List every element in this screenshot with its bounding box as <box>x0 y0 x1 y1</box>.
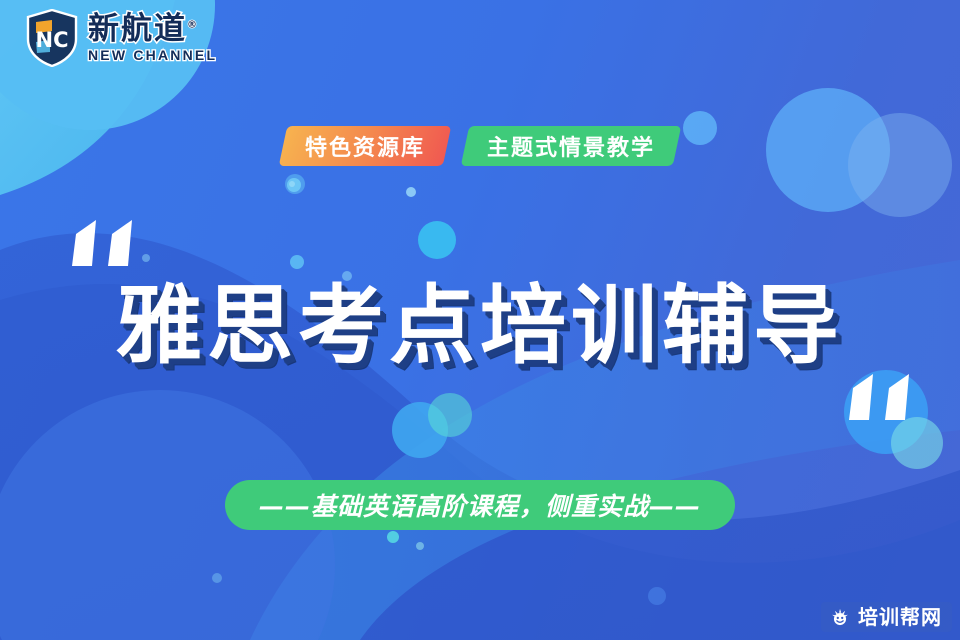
brand-wordmark: 新航道® NEW CHANNEL <box>88 14 217 62</box>
site-watermark-label: 培训帮网 <box>858 607 942 627</box>
feature-badge-row: 特色资源库 主题式情景教学 <box>0 126 960 166</box>
subtitle-pill[interactable]: ——基础英语高阶课程，侧重实战—— <box>225 480 735 530</box>
shape-dot-11 <box>212 573 222 583</box>
subtitle-container: ——基础英语高阶课程，侧重实战—— <box>0 480 960 530</box>
site-watermark[interactable]: 培训帮网 <box>821 602 952 632</box>
smiling-face-icon <box>829 606 851 628</box>
shape-dot-9 <box>387 531 399 543</box>
feature-badge-teaching[interactable]: 主题式情景教学 <box>461 126 682 166</box>
promo-banner: NC 新航道® NEW CHANNEL 特色资源库 主题式情景教学 雅思考点培训… <box>0 0 960 640</box>
brand-name-en: NEW CHANNEL <box>88 48 217 62</box>
brand-logo[interactable]: NC 新航道® NEW CHANNEL <box>26 9 217 67</box>
feature-badge-resources[interactable]: 特色资源库 <box>279 126 452 166</box>
brand-name-cn-text: 新航道 <box>88 11 187 47</box>
headline-title: 雅思考点培训辅导 <box>0 255 960 380</box>
registered-mark: ® <box>187 20 199 31</box>
feature-badge-teaching-label: 主题式情景教学 <box>487 130 655 162</box>
shape-circle-teal-b <box>428 393 472 437</box>
shape-dot-4 <box>285 174 305 194</box>
shape-dot-5 <box>406 187 416 197</box>
shape-dot-10 <box>416 542 424 550</box>
shield-monogram: NC <box>36 28 69 52</box>
shape-dot-3 <box>418 221 456 259</box>
shape-circle-quote-right-small <box>891 417 943 469</box>
brand-name-cn: 新航道® <box>88 14 199 45</box>
feature-badge-resources-label: 特色资源库 <box>305 130 425 162</box>
shape-dot-12 <box>648 587 666 605</box>
nc-shield-icon: NC <box>26 9 78 67</box>
